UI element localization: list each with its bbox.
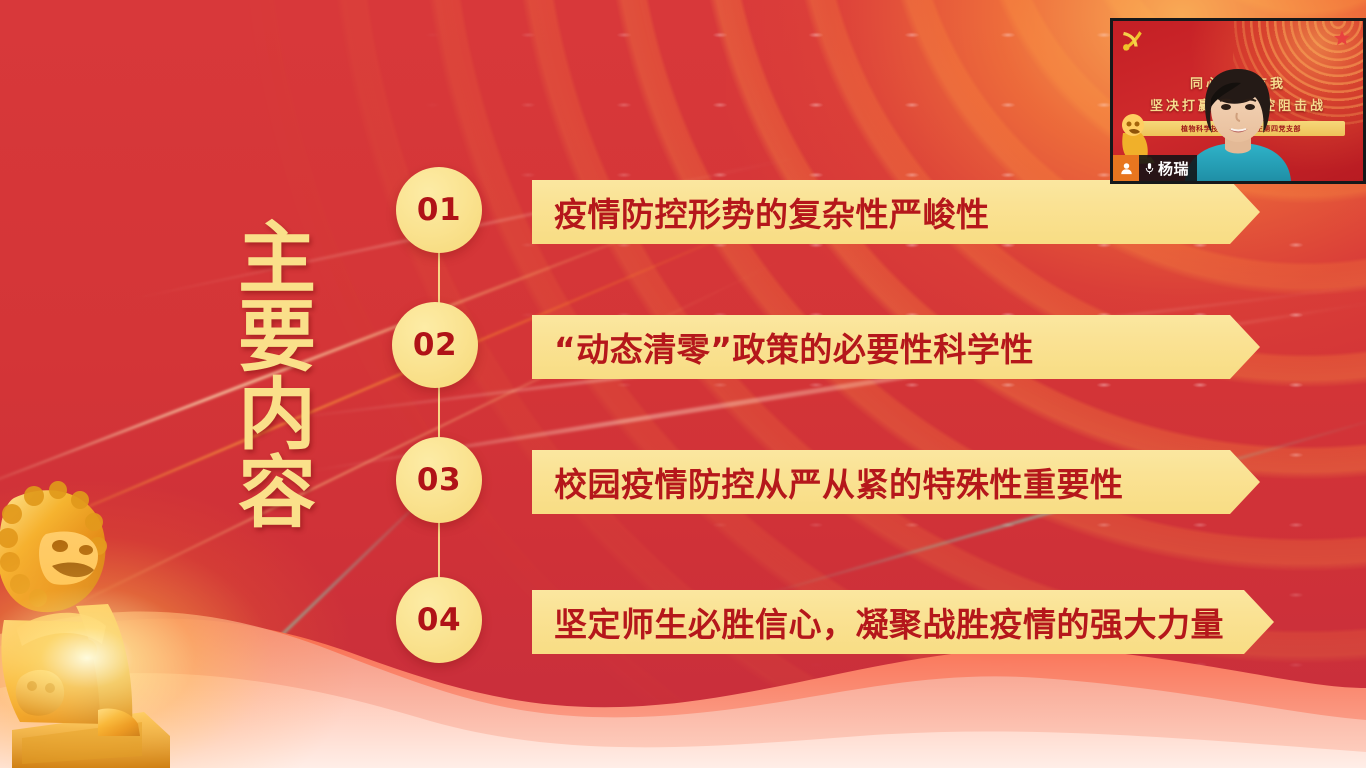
participant-name-chip: 杨瑞: [1139, 155, 1197, 181]
microphone-icon[interactable]: [1143, 161, 1156, 176]
timeline-badge-03[interactable]: 03: [396, 437, 482, 523]
content-banner-label: 校园疫情防控从严从紧的特殊性重要性: [532, 458, 1124, 506]
avatar: [1113, 155, 1139, 181]
timeline-badge-04[interactable]: 04: [396, 577, 482, 663]
content-banner-02[interactable]: “动态清零”政策的必要性科学性: [532, 315, 1260, 379]
timeline-badge-02[interactable]: 02: [392, 302, 478, 388]
content-banner-label: “动态清零”政策的必要性科学性: [532, 323, 1034, 371]
star-icon: [1333, 29, 1351, 47]
content-banner-label: 疫情防控形势的复杂性严峻性: [532, 188, 990, 236]
page-title: 主要内容: [208, 178, 320, 568]
presentation-slide: 主要内容 01 疫情防控形势的复杂性严峻性 02 “动态清零”政策的必要性科学性…: [0, 0, 1366, 768]
person-icon: [1119, 161, 1134, 176]
content-banner-04[interactable]: 坚定师生必胜信心，凝聚战胜疫情的强大力量: [532, 590, 1274, 654]
party-emblem-icon: [1119, 27, 1145, 53]
participant-video-tile[interactable]: 同心抗疫有我 坚决打赢疫情防控阻击战 植物科学技术学院研究生第四党支部: [1110, 18, 1366, 184]
content-banner-label: 坚定师生必胜信心，凝聚战胜疫情的强大力量: [532, 598, 1224, 646]
content-banner-01[interactable]: 疫情防控形势的复杂性严峻性: [532, 180, 1260, 244]
content-banner-03[interactable]: 校园疫情防控从严从紧的特殊性重要性: [532, 450, 1260, 514]
participant-name-label: 杨瑞: [1158, 158, 1189, 179]
timeline-badge-01[interactable]: 01: [396, 167, 482, 253]
participant-name-bar: 杨瑞: [1113, 155, 1197, 181]
timeline-connector-line: [438, 210, 440, 622]
